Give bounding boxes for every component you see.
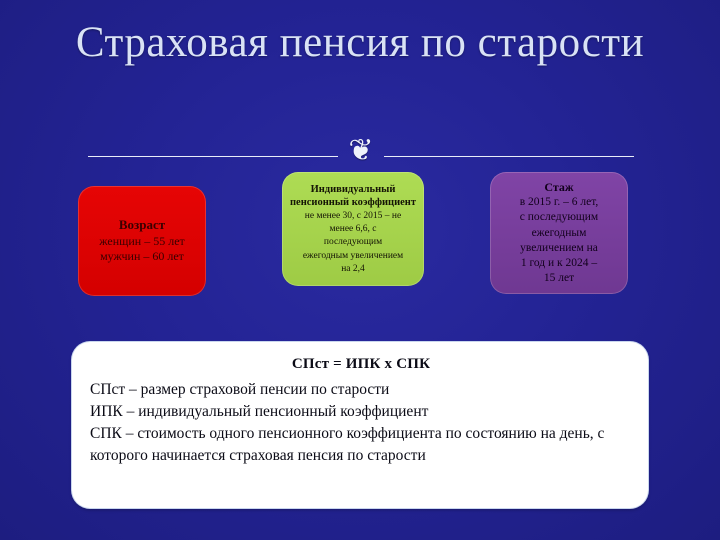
slide-canvas: Страховая пенсия по старости ❦ Возраст ж…: [0, 0, 720, 540]
ipk-card: Индивидуальный пенсионный коэффициент не…: [282, 172, 424, 286]
age-card: Возраст женщин – 55 лет мужчин – 60 лет: [78, 186, 206, 296]
age-card-title: Возраст: [119, 217, 165, 233]
staz-card-line-4: увеличением на: [520, 241, 598, 256]
staz-card-line-6: 15 лет: [544, 271, 574, 286]
ipk-card-line-1: не менее 30, с 2015 – не: [305, 210, 401, 222]
staz-card-line-3: ежегодным: [532, 226, 587, 241]
title-block: Страховая пенсия по старости: [0, 18, 720, 68]
staz-card-title: Стаж: [544, 180, 573, 196]
formula-definition-spst: СПст – размер страховой пенсии по старос…: [90, 379, 632, 401]
ipk-card-line-2: менее 6,6, с: [330, 223, 377, 235]
ipk-card-line-3: последующим: [324, 236, 382, 248]
title-divider: ❦: [88, 140, 634, 166]
formula-definition-spk: СПК – стоимость одного пенсионного коэфф…: [90, 423, 632, 467]
staz-card-line-2: с последующим: [520, 210, 598, 225]
formula-panel: СПст = ИПК х СПК СПст – размер страховой…: [72, 342, 648, 508]
floral-ornament-icon: ❦: [348, 136, 373, 166]
formula-headline: СПст = ИПК х СПК: [90, 354, 632, 375]
ipk-card-line-4: ежегодным увеличением: [303, 250, 403, 262]
page-title: Страховая пенсия по старости: [0, 18, 720, 68]
age-card-line-1: женщин – 55 лет: [99, 234, 185, 250]
age-card-line-2: мужчин – 60 лет: [100, 249, 184, 265]
formula-definition-ipk: ИПК – индивидуальный пенсионный коэффици…: [90, 401, 632, 423]
divider-line-right: [384, 156, 634, 157]
ipk-card-title: Индивидуальный пенсионный коэффициент: [290, 183, 416, 209]
ipk-card-line-5: на 2,4: [341, 263, 365, 275]
staz-card-line-5: 1 год и к 2024 –: [521, 256, 597, 271]
staz-card: Стаж в 2015 г. – 6 лет, с последующим еж…: [490, 172, 628, 294]
divider-line-left: [88, 156, 338, 157]
staz-card-line-1: в 2015 г. – 6 лет,: [520, 195, 598, 210]
